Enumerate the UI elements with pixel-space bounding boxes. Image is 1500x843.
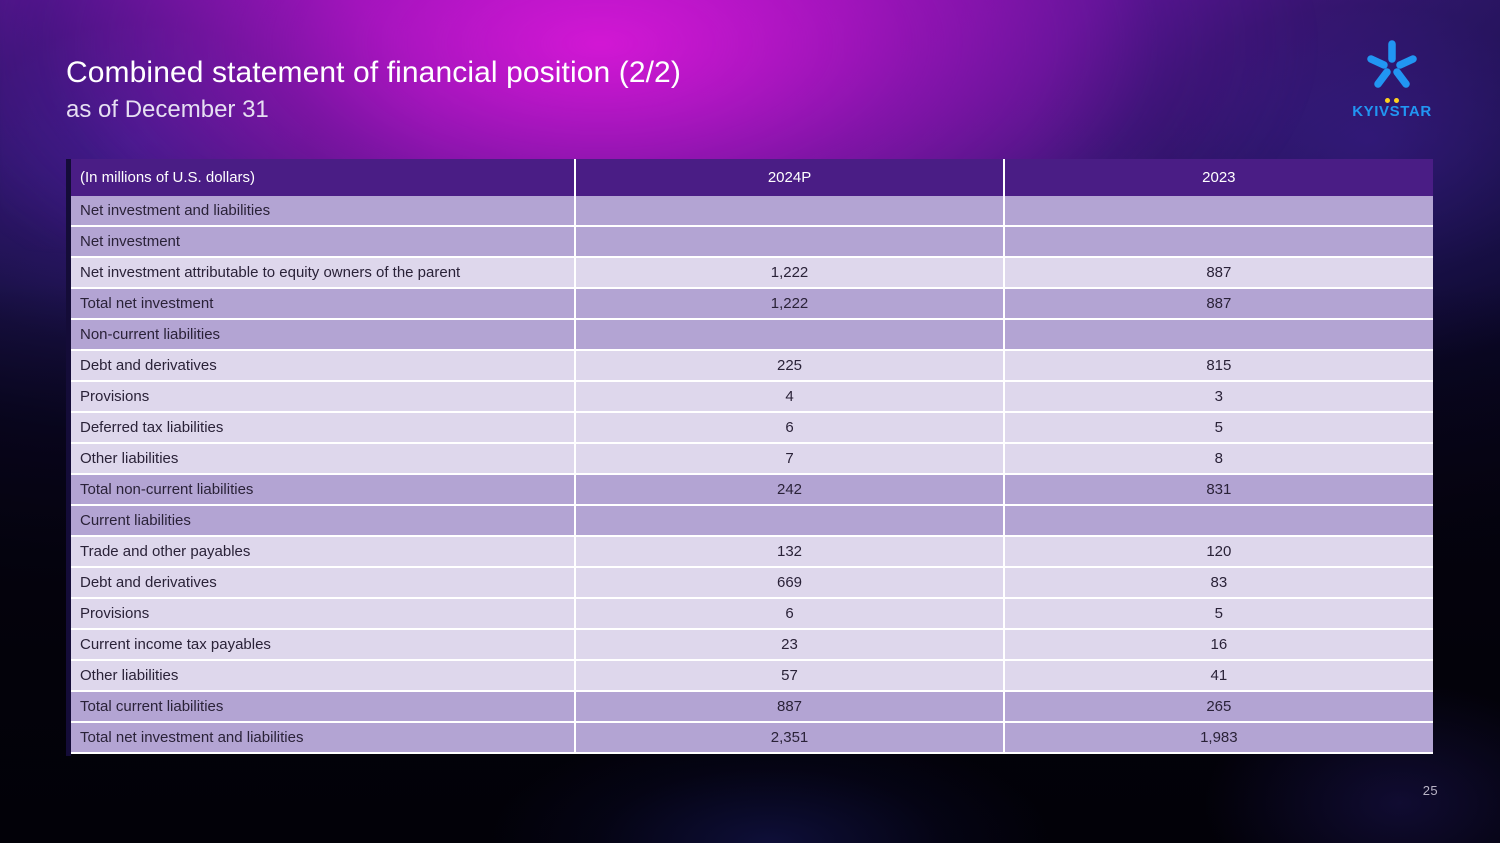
table-row: Current liabilities [66,506,1433,537]
row-label: Provisions [66,382,576,413]
table-row: Other liabilities78 [66,444,1433,475]
row-label: Provisions [66,599,576,630]
table-header-row: (In millions of U.S. dollars) 2024P 2023 [66,159,1433,196]
row-label: Total net investment [66,289,576,320]
cell-2024p [576,196,1004,227]
slide-header: Combined statement of financial position… [66,55,681,125]
row-label: Net investment attributable to equity ow… [66,258,576,289]
cell-2023: 887 [1005,289,1433,320]
cell-2024p [576,320,1004,351]
cell-2024p: 1,222 [576,289,1004,320]
row-label: Net investment and liabilities [66,196,576,227]
table-row: Current income tax payables2316 [66,630,1433,661]
cell-2024p: 6 [576,413,1004,444]
table-body: Net investment and liabilitiesNet invest… [66,196,1433,754]
kyivstar-logo: KYIVSTAR [1346,36,1438,120]
table-row: Debt and derivatives225815 [66,351,1433,382]
row-label: Debt and derivatives [66,568,576,599]
table-row: Total non-current liabilities242831 [66,475,1433,506]
cell-2023: 3 [1005,382,1433,413]
cell-2024p: 669 [576,568,1004,599]
table-header: (In millions of U.S. dollars) 2024P 2023 [66,159,1433,196]
cell-2023: 5 [1005,599,1433,630]
row-label: Current income tax payables [66,630,576,661]
row-label: Deferred tax liabilities [66,413,576,444]
table-row: Total net investment and liabilities2,35… [66,723,1433,754]
column-header-label: (In millions of U.S. dollars) [66,159,576,196]
cell-2023 [1005,506,1433,537]
cell-2024p: 887 [576,692,1004,723]
cell-2023: 8 [1005,444,1433,475]
cell-2024p: 242 [576,475,1004,506]
row-label: Total net investment and liabilities [66,723,576,754]
row-label: Other liabilities [66,661,576,692]
column-header-2023: 2023 [1005,159,1433,196]
cell-2023: 5 [1005,413,1433,444]
cell-2023: 16 [1005,630,1433,661]
cell-2024p: 23 [576,630,1004,661]
cell-2024p: 6 [576,599,1004,630]
financial-position-table: (In millions of U.S. dollars) 2024P 2023… [66,159,1433,754]
cell-2024p: 1,222 [576,258,1004,289]
cell-2024p [576,227,1004,258]
table-left-accent-bar [66,159,71,756]
table-row: Net investment and liabilities [66,196,1433,227]
cell-2024p: 7 [576,444,1004,475]
page-number: 25 [1423,783,1438,798]
table-row: Debt and derivatives66983 [66,568,1433,599]
cell-2023: 815 [1005,351,1433,382]
kyivstar-star-icon [1362,38,1422,98]
table-row: Deferred tax liabilities65 [66,413,1433,444]
cell-2023: 265 [1005,692,1433,723]
cell-2023: 120 [1005,537,1433,568]
table-row: Net investment [66,227,1433,258]
cell-2023: 831 [1005,475,1433,506]
column-header-2024p: 2024P [576,159,1004,196]
table-row: Total net investment1,222887 [66,289,1433,320]
cell-2023: 41 [1005,661,1433,692]
row-label: Debt and derivatives [66,351,576,382]
row-label: Non-current liabilities [66,320,576,351]
page-title: Combined statement of financial position… [66,55,681,90]
cell-2024p: 225 [576,351,1004,382]
cell-2024p: 57 [576,661,1004,692]
cell-2023 [1005,196,1433,227]
table-row: Trade and other payables132120 [66,537,1433,568]
row-label: Net investment [66,227,576,258]
row-label: Current liabilities [66,506,576,537]
kyivstar-wordmark: KYIVSTAR [1352,103,1432,120]
page-subtitle: as of December 31 [66,96,681,125]
row-label: Total non-current liabilities [66,475,576,506]
row-label: Total current liabilities [66,692,576,723]
cell-2024p: 132 [576,537,1004,568]
cell-2023: 83 [1005,568,1433,599]
cell-2023 [1005,227,1433,258]
cell-2024p [576,506,1004,537]
table-row: Non-current liabilities [66,320,1433,351]
table-row: Net investment attributable to equity ow… [66,258,1433,289]
cell-2023: 887 [1005,258,1433,289]
row-label: Trade and other payables [66,537,576,568]
cell-2024p: 2,351 [576,723,1004,754]
cell-2023 [1005,320,1433,351]
cell-2024p: 4 [576,382,1004,413]
table-row: Provisions43 [66,382,1433,413]
table-row: Other liabilities5741 [66,661,1433,692]
row-label: Other liabilities [66,444,576,475]
cell-2023: 1,983 [1005,723,1433,754]
table-row: Provisions65 [66,599,1433,630]
table-row: Total current liabilities887265 [66,692,1433,723]
